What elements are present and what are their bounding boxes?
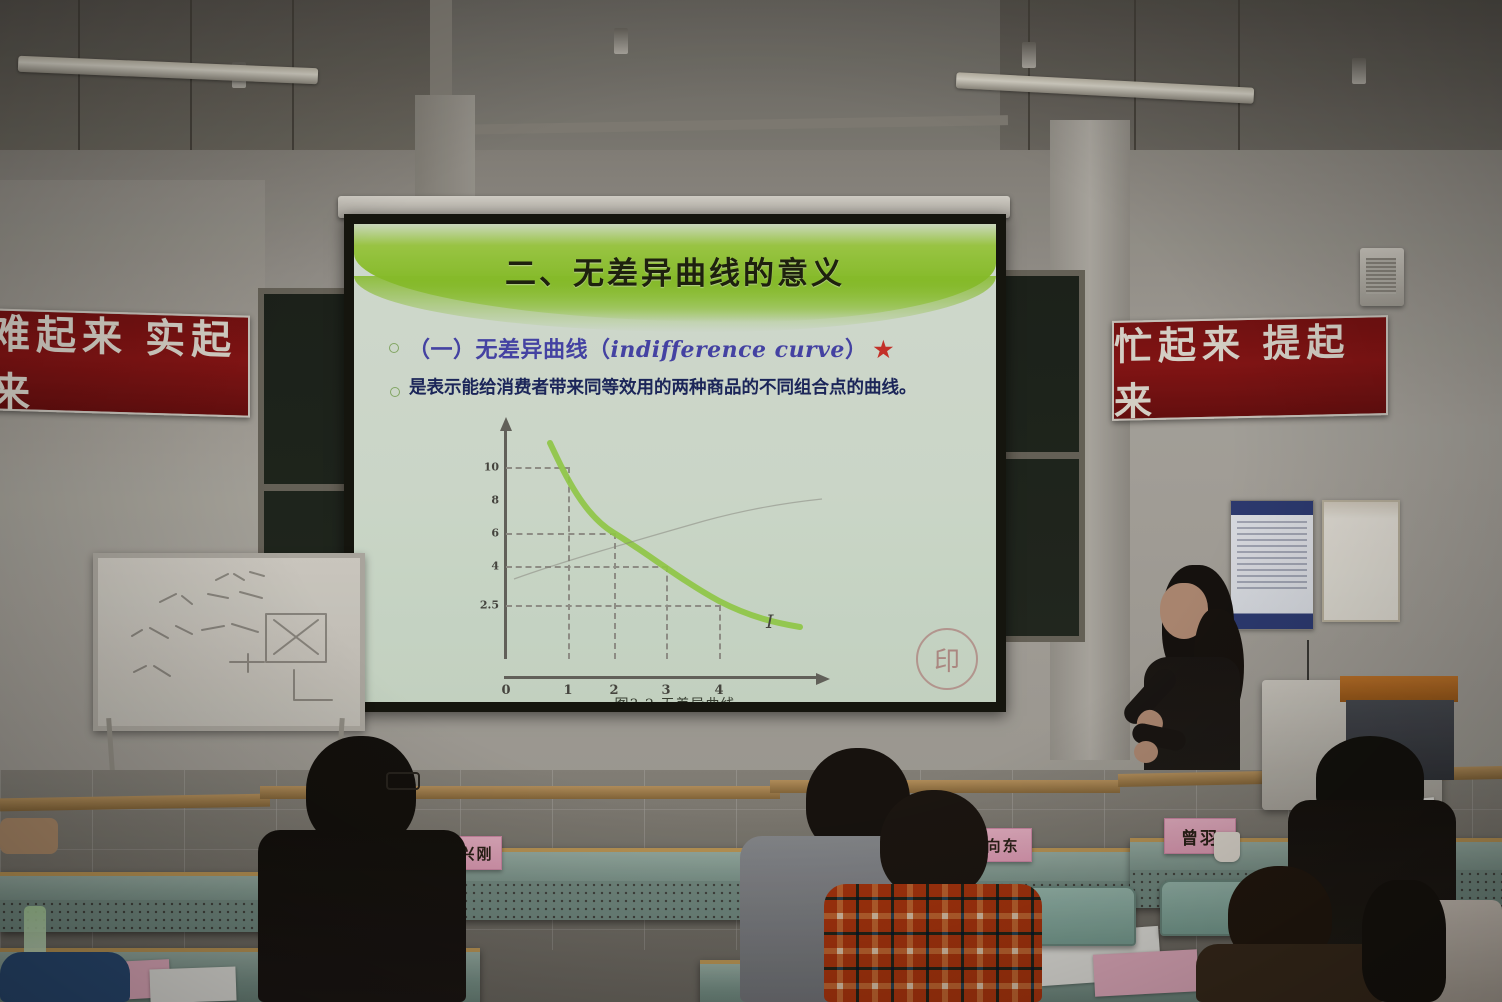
chart-curve [504, 429, 834, 661]
notice-line [1237, 533, 1307, 535]
attendee-torso-plaid [824, 884, 1042, 1002]
slide-bullet-heading: （一）无差异曲线（indifference curve）★ [389, 332, 979, 364]
heading-en-term: indifference curve [611, 337, 845, 363]
presenter-hand-held [1134, 741, 1158, 763]
wall-banner-left: 难起来 实起来 [0, 308, 250, 417]
notice-line [1237, 527, 1307, 529]
notice-line [1237, 539, 1307, 541]
notice-line [1237, 521, 1307, 523]
chart-ytick-10: 10 [484, 461, 499, 474]
attendee-torso [0, 952, 130, 1002]
slide-content: 二、无差异曲线的意义 （一）无差异曲线（indifference curve）★… [354, 224, 996, 702]
attendee-torso [258, 830, 466, 1002]
ceiling-hook-icon [1022, 42, 1036, 68]
indifference-curve-chart: 10 8 6 4 2.5 0 1 2 3 4 I [504, 429, 834, 679]
slide-bullet-body-text: 是表示能给消费者带来同等效用的两种商品的不同组合点的曲线。 [409, 376, 917, 401]
heading-cn-lead: （一）无差异曲线（ [408, 337, 611, 363]
wall-notice-framed [1322, 500, 1400, 622]
chart-x-axis [504, 676, 822, 679]
heading-cn-tail: ） [845, 337, 868, 363]
wall-speaker-unit [1360, 248, 1404, 306]
chart-caption: 图3-2 无差异曲线 [354, 694, 996, 702]
chart-ytick-8: 8 [491, 494, 499, 507]
notice-line [1237, 551, 1307, 553]
ceiling-hook-icon [614, 28, 628, 54]
notebook [149, 967, 236, 1002]
wall-banner-right: 忙起来 提起来 [1112, 315, 1388, 421]
bullet-dot-icon [389, 343, 399, 353]
notice-line [1237, 557, 1307, 559]
ceiling-hook-icon [1352, 58, 1366, 84]
lectern-desktop [1340, 676, 1458, 702]
chart-ytick-2.5: 2.5 [480, 599, 499, 612]
pink-document [1093, 949, 1199, 996]
slide-bullet-heading-text: （一）无差异曲线（indifference curve）★ [408, 332, 894, 364]
attendee-hair [1362, 880, 1446, 1002]
paper-cup [1214, 832, 1240, 862]
attendee-hand [0, 818, 58, 854]
chart-ytick-4: 4 [491, 560, 499, 573]
seal-icon: 印 [916, 628, 978, 690]
slide-title: 二、无差异曲线的意义 [354, 248, 996, 293]
whiteboard-handwriting [98, 558, 360, 726]
classroom-scene: 难起来 实起来 忙起来 提起来 二、无差异曲线的意义 （一）无差异曲线（indi… [0, 0, 1502, 1002]
chart-x-arrow-icon [816, 673, 830, 685]
star-icon: ★ [873, 337, 893, 363]
projection-screen: 二、无差异曲线的意义 （一）无差异曲线（indifference curve）★… [344, 214, 1006, 712]
slide-bullet-body: 是表示能给消费者带来同等效用的两种商品的不同组合点的曲线。 [390, 376, 970, 401]
attendee-head [880, 790, 988, 898]
eyeglasses-icon [386, 772, 420, 790]
bullet-dot-icon [390, 387, 400, 397]
attendee-torso [1196, 944, 1386, 1002]
whiteboard [93, 553, 365, 731]
chart-axis-label-I: I [766, 611, 774, 633]
notice-line [1237, 545, 1307, 547]
chart-ytick-6: 6 [491, 527, 499, 540]
